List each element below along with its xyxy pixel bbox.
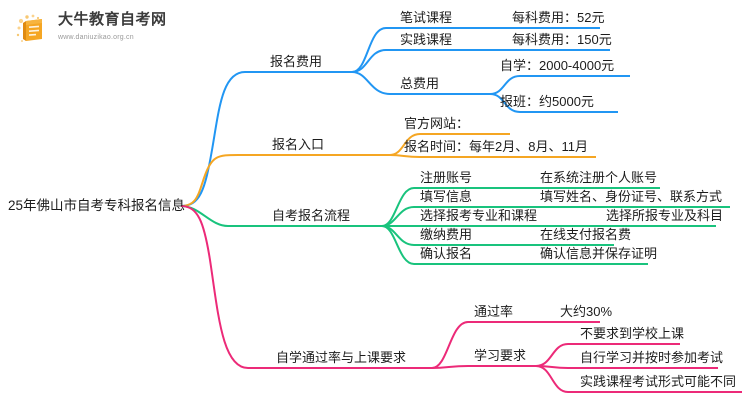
mindmap-node-total-fee[interactable]: 总费用: [400, 76, 439, 92]
mindmap-node-register-account[interactable]: 注册账号: [420, 170, 472, 186]
mindmap-node-self-study-exam[interactable]: 自行学习并按时参加考试: [580, 350, 723, 366]
mindmap-node-no-attendance-required[interactable]: 不要求到学校上课: [580, 326, 684, 342]
mindmap-node-branch-process[interactable]: 自考报名流程: [272, 208, 350, 224]
mindmap-node-class-fee[interactable]: 报班：约5000元: [500, 94, 594, 110]
mindmap-node-fill-info-desc[interactable]: 填写姓名、身份证号、联系方式: [540, 189, 722, 205]
mindmap-node-confirm-registration-desc[interactable]: 确认信息并保存证明: [540, 246, 657, 262]
mindmap-root-node[interactable]: 25年佛山市自考专科报名信息: [8, 198, 185, 214]
mindmap-node-written-course[interactable]: 笔试课程: [400, 10, 452, 26]
mindmap-node-self-study-fee[interactable]: 自学：2000-4000元: [500, 58, 614, 74]
mindmap-node-branch-entry[interactable]: 报名入口: [272, 137, 324, 153]
mindmap-node-pay-fee[interactable]: 缴纳费用: [420, 227, 472, 243]
mindmap-node-practical-exam-format[interactable]: 实践课程考试形式可能不同: [580, 374, 736, 390]
mindmap-node-study-requirements[interactable]: 学习要求: [474, 348, 526, 364]
mindmap-node-choose-major[interactable]: 选择报考专业和课程: [420, 208, 537, 224]
mindmap-node-practical-course[interactable]: 实践课程: [400, 32, 452, 48]
mindmap-node-branch-fee[interactable]: 报名费用: [270, 54, 322, 70]
mindmap-node-written-course-fee[interactable]: 每科费用：52元: [512, 10, 604, 26]
mindmap-node-official-website[interactable]: 官方网站：: [404, 116, 469, 132]
mindmap-node-fill-info[interactable]: 填写信息: [420, 189, 472, 205]
mindmap-node-register-account-desc[interactable]: 在系统注册个人账号: [540, 170, 657, 186]
mindmap-node-branch-pass-rate[interactable]: 自学通过率与上课要求: [276, 350, 406, 366]
mindmap-node-pass-rate[interactable]: 通过率: [474, 304, 513, 320]
mindmap-node-practical-course-fee[interactable]: 每科费用：150元: [512, 32, 612, 48]
mindmap-node-pay-fee-desc[interactable]: 在线支付报名费: [540, 227, 631, 243]
mindmap-node-pass-rate-value[interactable]: 大约30%: [560, 304, 612, 320]
mindmap-node-registration-time[interactable]: 报名时间：每年2月、8月、11月: [404, 139, 588, 155]
mindmap-node-confirm-registration[interactable]: 确认报名: [420, 246, 472, 262]
mindmap-node-choose-major-desc[interactable]: 选择所报专业及科目: [606, 208, 723, 224]
